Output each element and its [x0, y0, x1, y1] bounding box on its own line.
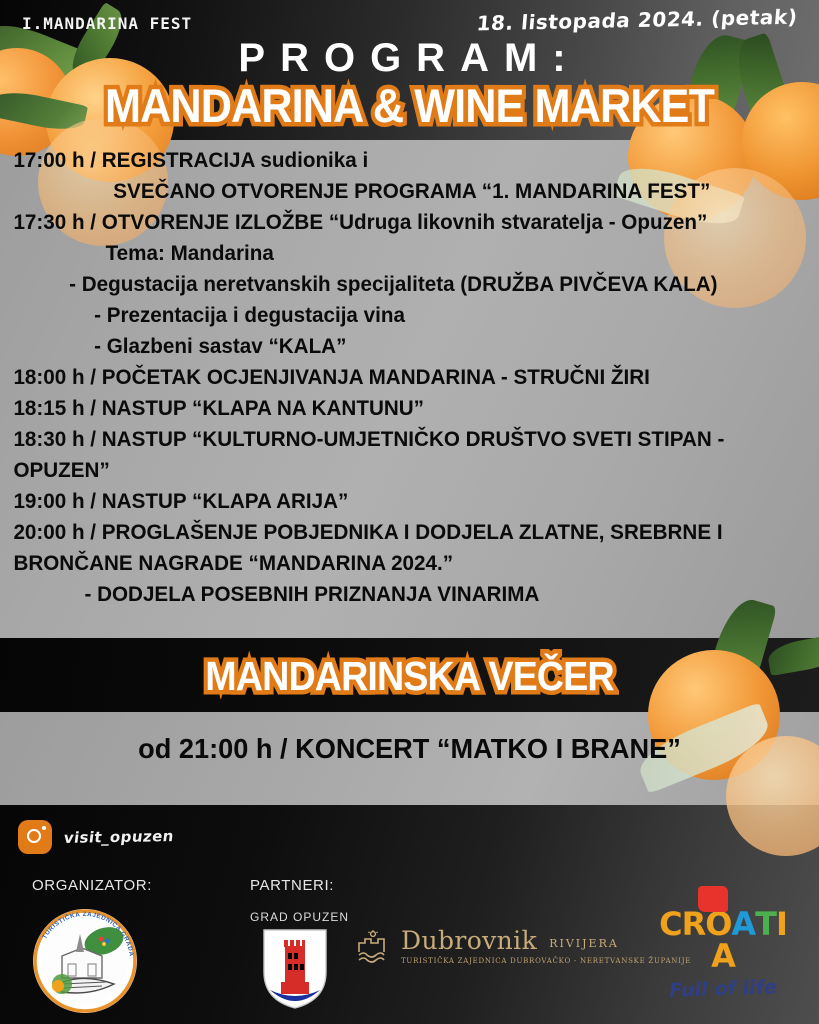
- dubrovnik-name: Dubrovnik: [401, 928, 537, 953]
- program-line: - Glazbeni sastav “KALA”: [0, 331, 786, 362]
- program-line: 20:00 h / PROGLAŠENJE POBJEDNIKA I DODJE…: [0, 517, 786, 579]
- program-list: 17:00 h / REGISTRACIJA sudionika iSVEČAN…: [0, 145, 819, 610]
- grad-opuzen-crest: [262, 928, 328, 1010]
- evening-title: MANDARINSKA VEČER: [33, 653, 786, 700]
- croatia-full-of-life-logo: CROATIA Full of life: [648, 908, 798, 1000]
- social-handle[interactable]: visit_opuzen: [18, 820, 174, 854]
- croatia-wordmark: CROATIA: [648, 908, 798, 972]
- croatia-letter: A: [711, 940, 735, 972]
- croatia-slogan: Full of life: [646, 975, 800, 1002]
- dubrovnik-mark-icon: [356, 930, 392, 964]
- program-line: - Degustacija neretvanskih specijaliteta…: [0, 269, 786, 300]
- page-title: PROGRAM:: [0, 36, 819, 81]
- organizator-label: ORGANIZATOR:: [32, 877, 152, 894]
- dubrovnik-rivijera-logo: Dubrovnik RIVIJERA TURISTIČKA ZAJEDNICA …: [356, 928, 691, 965]
- croatia-letter: T: [755, 908, 776, 940]
- program-line: Tema: Mandarina: [0, 238, 786, 269]
- fest-label: I.MANDARINA FEST: [22, 14, 192, 33]
- program-line: 18:15 h / NASTUP “KLAPA NA KANTUNU”: [0, 393, 786, 424]
- croatia-letter: A: [731, 908, 755, 940]
- event-poster: I.MANDARINA FEST 18. listopada 2024. (pe…: [0, 0, 819, 1024]
- tz-opuzen-logo: TURISTIČKA ZAJEDNICA GRADA OPUZENA: [32, 908, 138, 1014]
- concert-line: od 21:00 h / KONCERT “MATKO I BRANE”: [12, 733, 806, 765]
- program-line: 18:00 h / POČETAK OCJENJIVANJA MANDARINA…: [0, 362, 786, 393]
- instagram-handle-label: visit_opuzen: [63, 827, 175, 847]
- program-line: 19:00 h / NASTUP “KLAPA ARIJA”: [0, 486, 786, 517]
- program-line: SVEČANO OTVORENJE PROGRAMA “1. MANDARINA…: [0, 176, 786, 207]
- program-line: 18:30 h / NASTUP “KULTURNO-UMJETNIČKO DR…: [0, 424, 786, 486]
- program-line: - Prezentacija i degustacija vina: [0, 300, 786, 331]
- dubrovnik-sub: RIVIJERA: [549, 938, 619, 949]
- program-line: - DODJELA POSEBNIH PRIZNANJA VINARIMA: [0, 579, 786, 610]
- market-title: MANDARINA & WINE MARKET: [33, 78, 786, 133]
- croatia-letter: C: [659, 908, 681, 940]
- grad-opuzen-label: GRAD OPUZEN: [250, 910, 349, 924]
- croatia-red-block: [698, 886, 728, 912]
- program-line: 17:00 h / REGISTRACIJA sudionika i: [0, 145, 786, 176]
- croatia-letter: R: [682, 908, 706, 940]
- program-line: 17:30 h / OTVORENJE IZLOŽBE “Udruga liko…: [0, 207, 786, 238]
- partneri-label: PARTNERI:: [250, 877, 334, 894]
- instagram-icon[interactable]: [18, 820, 52, 854]
- croatia-letter: I: [776, 908, 787, 940]
- croatia-letter: O: [705, 908, 731, 940]
